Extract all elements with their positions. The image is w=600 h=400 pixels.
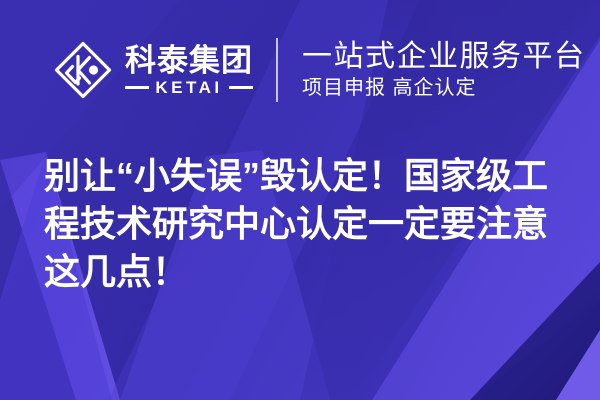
brand-name-en: KETAI (155, 79, 222, 96)
tagline-primary: 一站式企业服务平台 (302, 41, 586, 73)
banner-header: 科泰集团 KETAI 一站式企业服务平台 项目申报 高企认定 (0, 0, 600, 140)
brand-wordmark: 科泰集团 KETAI (125, 45, 253, 96)
header-divider (276, 38, 278, 102)
tagline-secondary: 项目申报 高企认定 (302, 78, 586, 99)
brand-name-en-row: KETAI (125, 79, 253, 96)
headline-text: 别让“小失误”毁认定！国家级工程技术研究中心认定一定要注意这几点！ (44, 152, 566, 296)
brand-name-cn: 科泰集团 (125, 45, 253, 76)
promo-banner: 科泰集团 KETAI 一站式企业服务平台 项目申报 高企认定 别让“小失误”毁认… (0, 0, 600, 400)
ketai-diamond-kt-monogram-icon (52, 39, 114, 101)
brand-tagline: 一站式企业服务平台 项目申报 高企认定 (302, 41, 586, 99)
wordmark-dash-left (125, 86, 149, 89)
wordmark-dash-right (229, 86, 253, 89)
brand-logo[interactable]: 科泰集团 KETAI (52, 39, 253, 101)
